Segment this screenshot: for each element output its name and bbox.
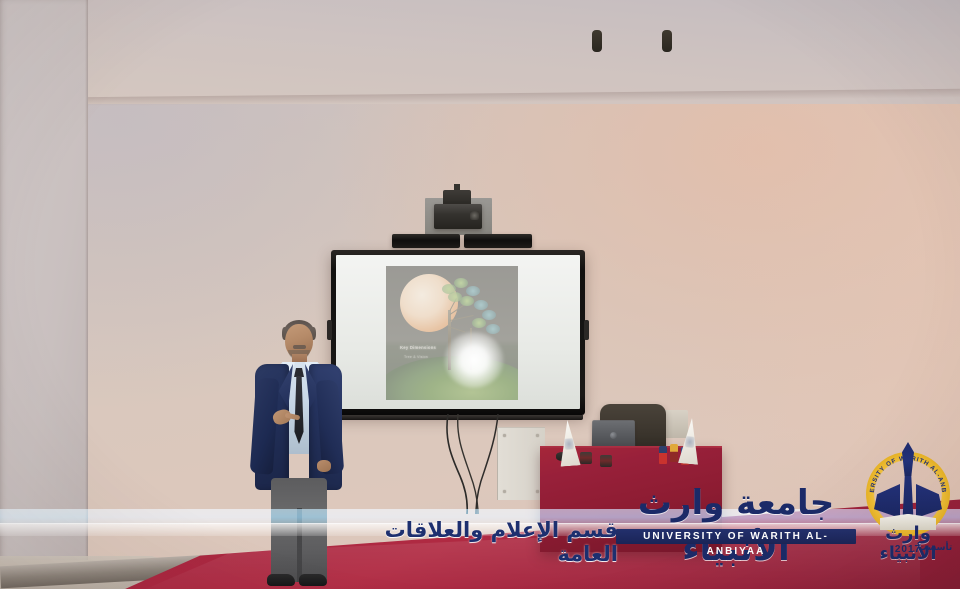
university-wordmark: جامعة وارث الأنبياء UNIVERSITY OF WARITH… bbox=[614, 480, 858, 552]
photo-canvas: Key Dimensions Tree & Vision bbox=[0, 0, 960, 589]
slide-foliage bbox=[486, 324, 500, 334]
left-wall bbox=[0, 0, 88, 560]
presenter-hand-right bbox=[317, 460, 331, 472]
panel-screw bbox=[503, 434, 506, 437]
slide-subtitle-text: Tree & Vision bbox=[404, 355, 428, 359]
projected-slide: Key Dimensions Tree & Vision bbox=[386, 266, 518, 400]
university-emblem: UNIVERSITY OF WARITH AL-ANBIYAA وارث الأ… bbox=[856, 440, 960, 558]
university-wordmark-bar: UNIVERSITY OF WARITH AL-ANBIYAA bbox=[616, 529, 856, 544]
desk-cup bbox=[580, 452, 592, 464]
slide-foliage bbox=[454, 278, 468, 288]
panel-screw bbox=[503, 490, 506, 493]
university-wordmark-english: UNIVERSITY OF WARITH AL-ANBIYAA bbox=[616, 529, 856, 559]
slide-foliage bbox=[474, 300, 488, 310]
projector-hotspot-glare bbox=[444, 332, 504, 388]
speaker-bar-left bbox=[392, 234, 460, 248]
emblem-year-arabic: تأسست bbox=[918, 543, 952, 553]
panel-screw bbox=[536, 434, 539, 437]
flag-logo-icon bbox=[564, 438, 574, 450]
department-name-arabic: قسم الإعلام والعلاقات العامة bbox=[318, 518, 618, 566]
wall-cable-panel bbox=[497, 427, 545, 500]
slide-foliage bbox=[466, 286, 480, 296]
flag-logo-icon bbox=[685, 436, 695, 448]
chair-armrest-right bbox=[662, 30, 672, 52]
desk-cup bbox=[600, 455, 612, 467]
desk-bottle bbox=[670, 444, 678, 462]
chair-armrest-left bbox=[592, 30, 602, 52]
speaker-bar-right bbox=[464, 234, 532, 248]
panel-screw bbox=[536, 490, 539, 493]
presenter-shoe-right bbox=[299, 574, 327, 586]
slide-foliage bbox=[460, 296, 474, 306]
slide-title-text: Key Dimensions bbox=[400, 344, 436, 351]
slide-foliage bbox=[472, 318, 486, 328]
laptop-logo-icon bbox=[610, 432, 617, 439]
slide-foliage bbox=[482, 310, 496, 320]
projector-lens-icon bbox=[470, 211, 479, 220]
slide-foliage bbox=[448, 292, 462, 302]
desk-bottle bbox=[659, 446, 667, 464]
university-wordmark-arabic: جامعة وارث الأنبياء bbox=[614, 480, 858, 528]
projector-body bbox=[434, 204, 482, 229]
whiteboard-side-mount-right bbox=[584, 320, 589, 340]
presenter-shoe-left bbox=[267, 574, 295, 586]
ceiling bbox=[0, 0, 960, 104]
presenter-moustache bbox=[293, 345, 306, 349]
